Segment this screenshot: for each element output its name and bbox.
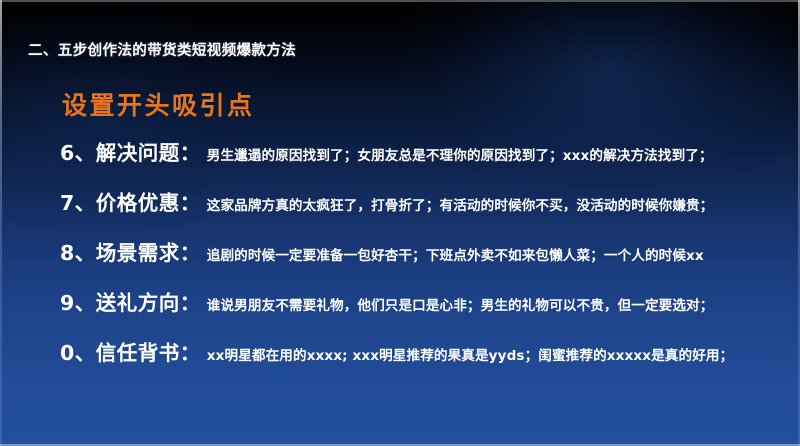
bullet-list: 6、解决问题： 男生邋遢的原因找到了；女朋友总是不理你的原因找到了；xxx的解决… [0, 136, 800, 386]
bullet-description: 谁说男朋友不需要礼物，他们只是口是心非；男生的礼物可以不贵，但一定要选对； [207, 294, 714, 314]
list-item: 6、解决问题： 男生邋遢的原因找到了；女朋友总是不理你的原因找到了；xxx的解决… [0, 136, 800, 186]
list-item: 0、信任背书： xx明星都在用的xxxx; xxx明星推荐的果真是yyds；闺蜜… [0, 336, 800, 386]
list-item: 9、送礼方向： 谁说男朋友不需要礼物，他们只是口是心非；男生的礼物可以不贵，但一… [0, 286, 800, 336]
presentation-slide: 二、五步创作法的带货类短视频爆款方法 设置开头吸引点 6、解决问题： 男生邋遢的… [0, 0, 800, 446]
slide-border-top [0, 0, 800, 2]
bullet-description: 这家品牌方真的太疯狂了，打骨折了；有活动的时候你不买，没活动的时候你嫌贵； [207, 194, 714, 214]
bullet-label: 8、场景需求： [60, 236, 201, 266]
page-title: 设置开头吸引点 [62, 86, 255, 122]
section-title: 二、五步创作法的带货类短视频爆款方法 [28, 39, 296, 60]
bullet-description: 男生邋遢的原因找到了；女朋友总是不理你的原因找到了；xxx的解决方法找到了； [207, 144, 713, 164]
bullet-label: 6、解决问题： [60, 136, 201, 166]
list-item: 8、场景需求： 追剧的时候一定要准备一包好杏干；下班点外卖不如来包懒人菜；一个人… [0, 236, 800, 286]
bullet-label: 0、信任背书： [60, 336, 201, 366]
bullet-description: xx明星都在用的xxxx; xxx明星推荐的果真是yyds；闺蜜推荐的xxxxx… [207, 344, 734, 364]
list-item: 7、价格优惠： 这家品牌方真的太疯狂了，打骨折了；有活动的时候你不买，没活动的时… [0, 186, 800, 236]
bullet-label: 7、价格优惠： [60, 186, 201, 216]
bullet-description: 追剧的时候一定要准备一包好杏干；下班点外卖不如来包懒人菜；一个人的时候xx [207, 244, 704, 264]
bullet-label: 9、送礼方向： [60, 286, 201, 316]
